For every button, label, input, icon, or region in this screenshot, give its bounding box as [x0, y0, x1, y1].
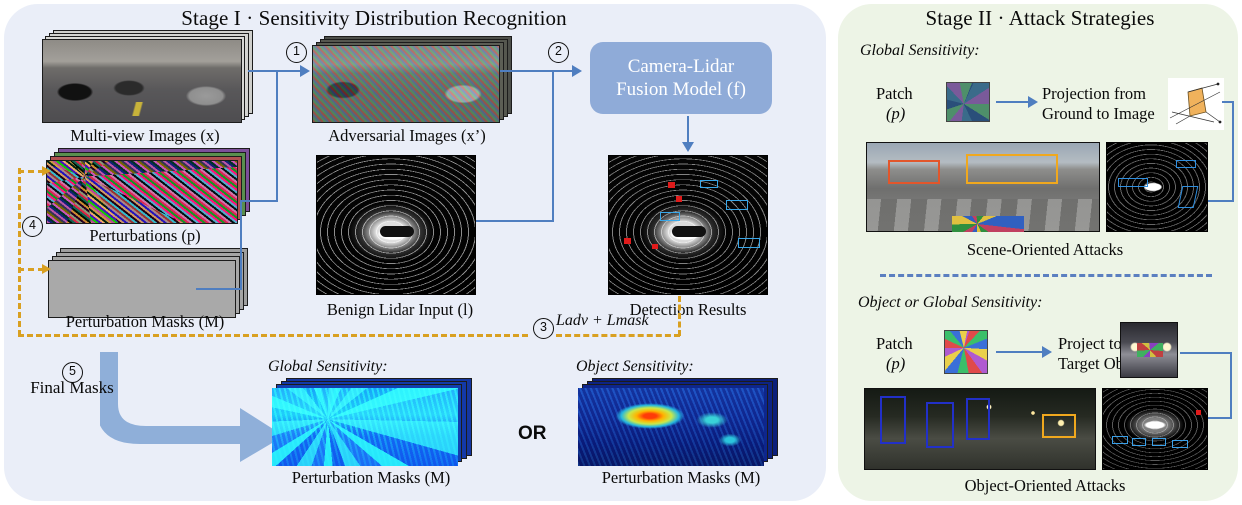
object-lidar-box-b: [1132, 438, 1146, 446]
stage2-object-patch-arrow-head: [1042, 346, 1052, 358]
loop-dash-top: [556, 334, 680, 337]
stage2-divider: [880, 274, 1212, 277]
step-marker-3: 3: [533, 318, 554, 339]
stage-2-title: Stage II · Attack Strategies: [856, 6, 1224, 31]
connector-lidar-riser: [552, 70, 554, 222]
label-or: OR: [518, 423, 547, 445]
object-detect-box-1: [880, 396, 906, 444]
loop-dash-bottom: [18, 334, 528, 337]
stage2-object-patch-symbol: (p): [886, 354, 926, 374]
loop-dash-to-perturbations: [18, 170, 44, 173]
detection-car-core: [672, 226, 706, 237]
stage2-object-patch-arrow-line: [996, 351, 1046, 353]
object-detect-box-3: [966, 398, 990, 440]
stage2-global-op-line2: Ground to Image: [1042, 104, 1188, 124]
connector-mask-merge: [196, 288, 242, 290]
stage2-global-patch-arrow-head: [1028, 96, 1038, 108]
caption-benign-lidar-input: Benign Lidar Input (l): [300, 300, 500, 320]
loss-label: Ladv + Lmask: [556, 312, 649, 330]
detection-point-red-d: [652, 244, 658, 249]
caption-masks-global: Perturbation Masks (M): [246, 468, 496, 488]
label-global-sensitivity: Global Sensitivity:: [268, 358, 388, 376]
detection-box-blue-c: [738, 238, 760, 248]
detection-box-blue-b: [726, 200, 748, 210]
connector-branch-down: [276, 70, 278, 202]
stage2-projection-diagram: [1168, 78, 1224, 130]
object-lidar-point-red: [1196, 410, 1201, 415]
scene-lidar-box-b: [1176, 160, 1196, 168]
detection-point-red-c: [624, 238, 631, 244]
object-lidar-box-a: [1112, 436, 1128, 444]
label-final-masks: Final Masks: [12, 378, 132, 398]
scene-detection-box-red: [888, 160, 940, 184]
model-box-line-2: Fusion Model (f): [616, 79, 746, 100]
object-oriented-lidar-image: [1102, 388, 1208, 470]
loop-dash-to-masks: [18, 268, 44, 271]
caption-perturbations: Perturbations (p): [40, 226, 250, 246]
connector-perturbation-riser: [240, 200, 242, 290]
stage2-object-return-top: [1180, 352, 1232, 354]
object-lidar-box-d: [1172, 440, 1188, 448]
stage-1-title: Stage I · Sensitivity Distribution Recog…: [24, 6, 724, 31]
connector-perturbation-merge: [240, 200, 278, 202]
detection-point-red-b: [676, 196, 682, 202]
object-detect-box-2: [926, 402, 954, 448]
loop-dash-right: [678, 296, 681, 336]
connector-adversarial-to-model: [500, 70, 578, 72]
perturbation-noise-image: [46, 160, 238, 224]
object-sensitivity-heatmap: [578, 388, 764, 466]
global-sensitivity-heatmap: [272, 388, 458, 466]
arrow-to-detection: [682, 142, 694, 152]
lidar-car-core: [380, 226, 414, 237]
stage2-global-op-line1: Projection from: [1042, 84, 1188, 104]
stage2-global-patch-label: Patch: [876, 84, 936, 104]
detection-point-red-a: [668, 182, 675, 188]
scene-lidar-box-a: [1118, 178, 1148, 187]
loop-arrow-to-perturbations: [42, 166, 51, 176]
camera-lidar-fusion-model-box: Camera-Lidar Fusion Model (f): [590, 42, 772, 114]
stage2-object-patch-image: [944, 330, 988, 374]
stage2-global-heading: Global Sensitivity:: [860, 42, 980, 60]
scene-adversarial-patch: [952, 216, 1024, 232]
scene-detection-box-orange: [966, 154, 1058, 184]
step-marker-4: 4: [22, 216, 43, 237]
object-detect-box-orange: [1042, 414, 1076, 438]
stage2-object-patch-label: Patch: [876, 334, 936, 354]
step-marker-2: 2: [548, 42, 569, 63]
loop-dash-left: [18, 168, 21, 336]
stage2-global-patch-symbol: (p): [886, 104, 926, 124]
detection-box-blue-a: [660, 212, 680, 221]
stage2-target-object-image: [1120, 322, 1178, 378]
caption-perturbation-masks: Perturbation Masks (M): [20, 312, 270, 332]
arrow-to-model: [572, 65, 582, 77]
step-marker-1: 1: [286, 42, 307, 63]
caption-adversarial-images: Adversarial Images (x’): [292, 126, 522, 146]
stage2-global-patch-image: [946, 82, 990, 122]
model-box-line-1: Camera-Lidar: [628, 56, 735, 77]
caption-masks-object: Perturbation Masks (M): [556, 468, 806, 488]
benign-lidar-input-image: [316, 155, 476, 295]
arrow-to-adversarial: [300, 65, 310, 77]
road-centerline: [100, 102, 180, 116]
caption-object-oriented-attacks: Object-Oriented Attacks: [880, 476, 1210, 496]
object-lidar-box-c: [1152, 438, 1166, 446]
label-object-sensitivity: Object Sensitivity:: [576, 358, 694, 376]
connector-lidar-to-riser: [476, 220, 554, 222]
detection-box-blue-d: [700, 180, 718, 188]
detection-results-image: [608, 155, 768, 295]
stage2-object-heading: Object or Global Sensitivity:: [858, 294, 1042, 312]
loop-arrow-to-masks: [42, 264, 51, 274]
stage2-global-patch-arrow-line: [996, 101, 1032, 103]
stage2-object-return-right: [1230, 352, 1232, 418]
stage2-global-return-right: [1232, 101, 1234, 201]
caption-multi-view-images: Multi-view Images (x): [10, 126, 280, 146]
adversarial-image: [312, 45, 500, 123]
caption-scene-oriented-attacks: Scene-Oriented Attacks: [880, 240, 1210, 260]
